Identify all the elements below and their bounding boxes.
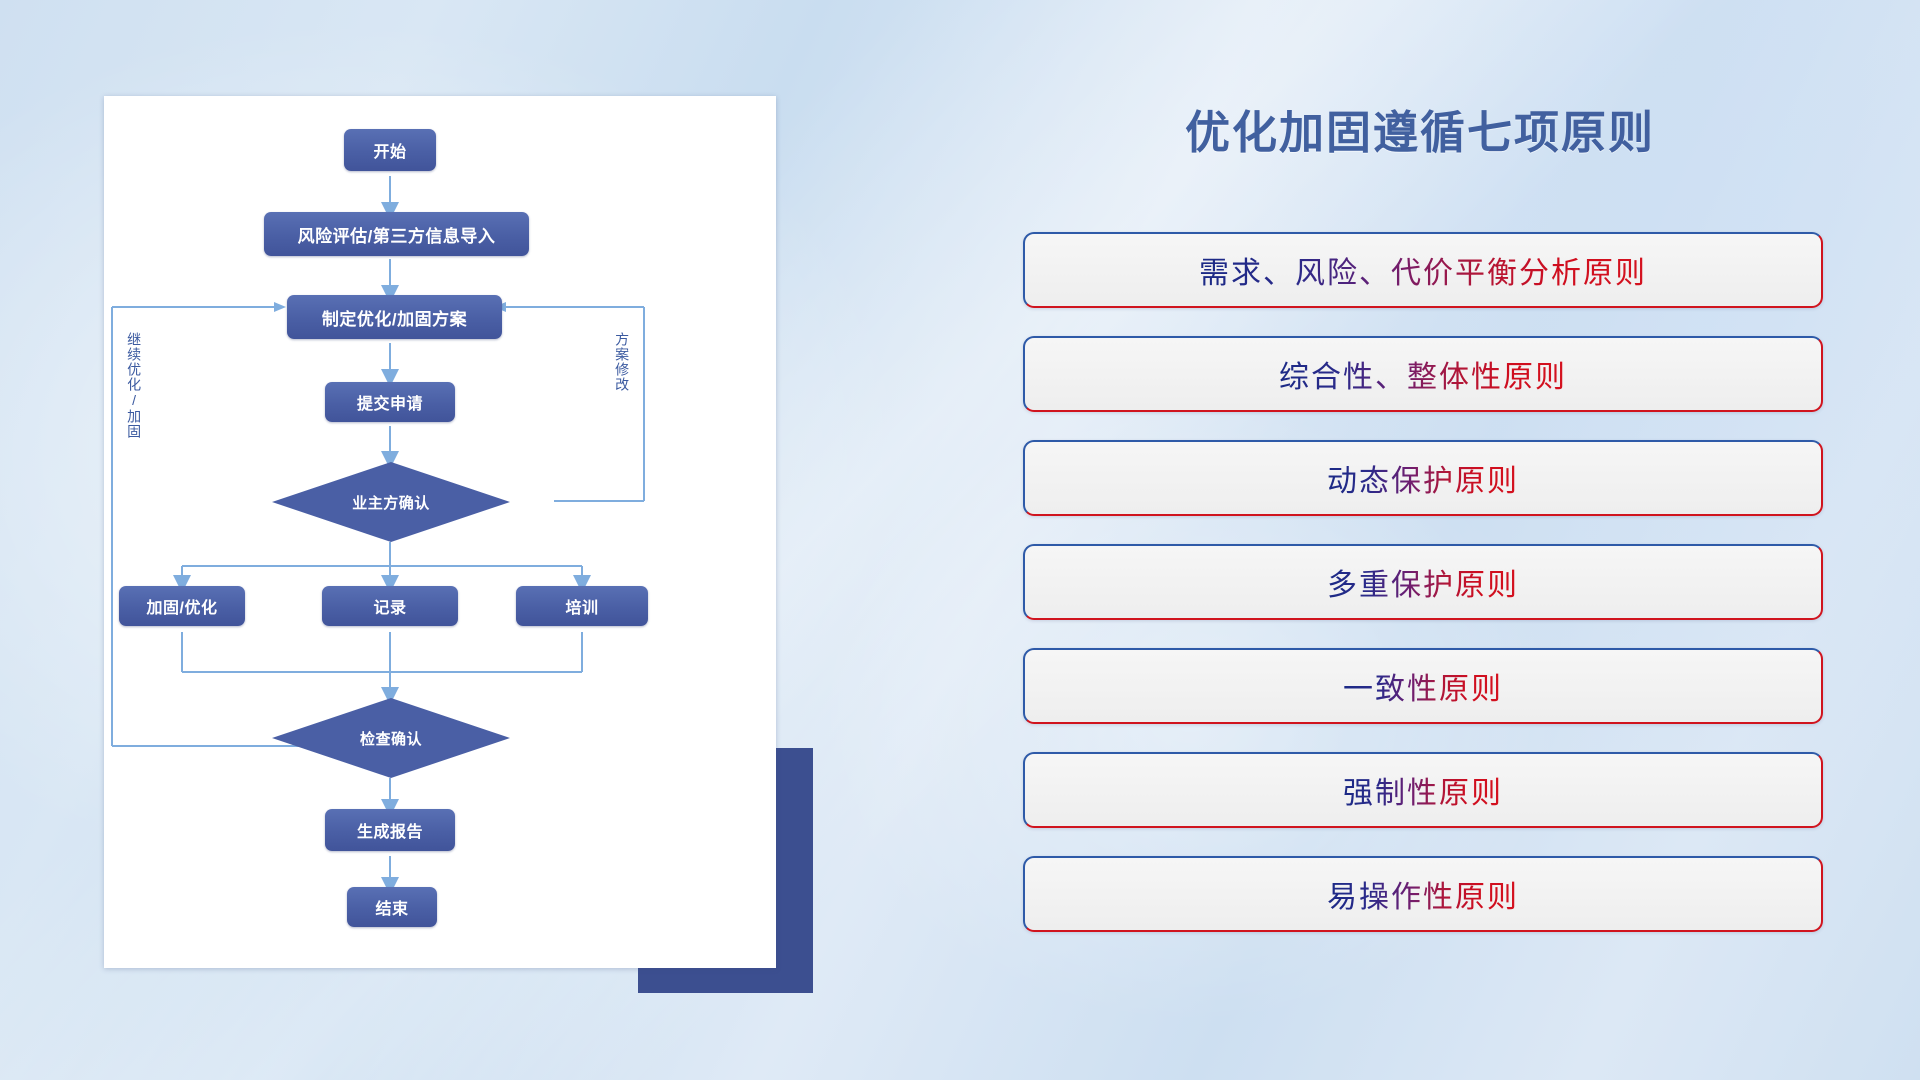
flow-node-generate-report-label: 生成报告: [357, 818, 423, 842]
flow-node-owner-confirm[interactable]: 业主方确认: [272, 462, 510, 542]
flow-node-record-label: 记录: [373, 594, 406, 618]
flow-node-make-plan[interactable]: 制定优化/加固方案: [287, 295, 502, 339]
principle-label: 一致性原则: [1343, 664, 1503, 708]
flow-node-start-label: 开始: [373, 138, 406, 162]
principle-label: 易操作性原则: [1327, 872, 1519, 916]
principle-item[interactable]: 多重保护原则: [1023, 544, 1823, 620]
edge-label-continue-optimize: 继续优化/加固: [126, 332, 141, 439]
flow-node-risk-assessment-label: 风险评估/第三方信息导入: [298, 222, 496, 247]
principle-label: 综合性、整体性原则: [1279, 352, 1567, 396]
flow-node-training[interactable]: 培训: [516, 586, 648, 626]
flow-node-reinforce-optimize-label: 加固/优化: [147, 594, 218, 618]
flow-node-end[interactable]: 结束: [347, 887, 437, 927]
flow-node-reinforce-optimize[interactable]: 加固/优化: [119, 586, 245, 626]
principle-item[interactable]: 易操作性原则: [1023, 856, 1823, 932]
principle-item[interactable]: 需求、风险、代价平衡分析原则: [1023, 232, 1823, 308]
page-title: 优化加固遵循七项原则: [1020, 96, 1820, 161]
principle-label: 强制性原则: [1343, 768, 1503, 812]
principle-label: 动态保护原则: [1327, 456, 1519, 500]
edge-label-plan-revision: 方案修改: [614, 332, 629, 392]
diamond-shape-check-confirm: [272, 698, 510, 778]
flow-node-record[interactable]: 记录: [322, 586, 458, 626]
flow-node-make-plan-label: 制定优化/加固方案: [322, 305, 467, 330]
principle-item[interactable]: 动态保护原则: [1023, 440, 1823, 516]
principle-item[interactable]: 综合性、整体性原则: [1023, 336, 1823, 412]
flow-node-check-confirm[interactable]: 检查确认: [272, 698, 510, 778]
diamond-shape-owner-confirm: [272, 462, 510, 542]
flow-node-submit-application[interactable]: 提交申请: [325, 382, 455, 422]
principle-label: 需求、风险、代价平衡分析原则: [1199, 248, 1647, 292]
principles-list: 需求、风险、代价平衡分析原则 综合性、整体性原则 动态保护原则 多重保护原则 一…: [1023, 232, 1823, 960]
flow-node-start[interactable]: 开始: [344, 129, 436, 171]
principle-item[interactable]: 强制性原则: [1023, 752, 1823, 828]
flowchart-panel: 开始 风险评估/第三方信息导入 制定优化/加固方案 提交申请 业主方确认 加固/…: [104, 96, 776, 968]
principle-item[interactable]: 一致性原则: [1023, 648, 1823, 724]
flow-node-training-label: 培训: [565, 594, 598, 618]
flow-node-generate-report[interactable]: 生成报告: [325, 809, 455, 851]
flow-node-submit-application-label: 提交申请: [357, 390, 423, 414]
flow-node-end-label: 结束: [375, 895, 408, 919]
flow-node-risk-assessment[interactable]: 风险评估/第三方信息导入: [264, 212, 529, 256]
slide-root: 开始 风险评估/第三方信息导入 制定优化/加固方案 提交申请 业主方确认 加固/…: [0, 0, 1920, 1080]
principle-label: 多重保护原则: [1327, 560, 1519, 604]
